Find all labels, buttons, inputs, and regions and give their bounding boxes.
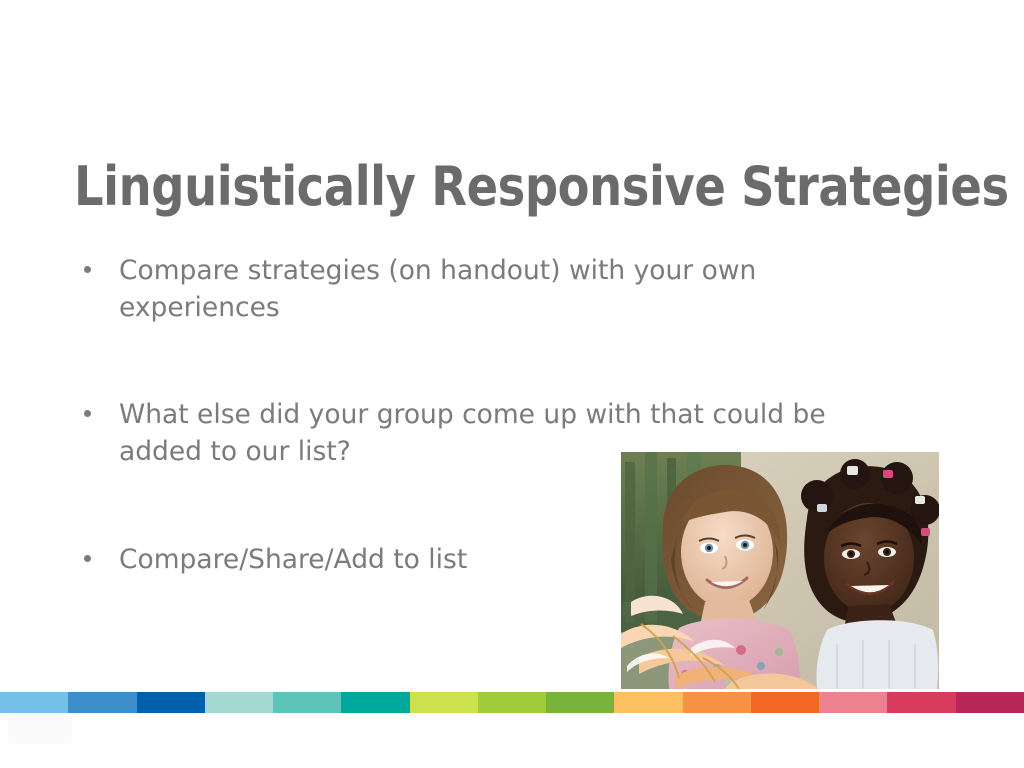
list-item: Compare strategies (on handout) with you… <box>76 252 906 326</box>
band-segment-yellow-green <box>410 692 478 713</box>
band-segment-light-orange <box>614 692 682 713</box>
band-segment-teal <box>273 692 341 713</box>
band-segment-crimson <box>887 692 955 713</box>
faint-watermark <box>8 718 72 744</box>
slide-title: Linguistically Responsive Strategies <box>74 155 848 219</box>
bullet-dot-icon <box>84 410 91 417</box>
band-segment-dark-blue <box>137 692 205 713</box>
band-segment-deep-teal <box>341 692 409 713</box>
band-segment-deep-orange <box>751 692 819 713</box>
bullet-dot-icon <box>84 555 91 562</box>
slide-photo <box>621 452 939 689</box>
band-segment-magenta <box>956 692 1024 713</box>
band-segment-light-blue <box>0 692 68 713</box>
band-segment-pale-teal <box>205 692 273 713</box>
band-segment-salmon-pink <box>819 692 887 713</box>
presentation-slide: Linguistically Responsive Strategies Com… <box>0 0 1024 768</box>
bullet-dot-icon <box>84 266 91 273</box>
band-segment-medium-blue <box>68 692 136 713</box>
band-segment-lime-green <box>478 692 546 713</box>
band-segment-green <box>546 692 614 713</box>
bullet-text: Compare strategies (on handout) with you… <box>119 252 906 326</box>
footer-color-band <box>0 692 1024 713</box>
band-segment-orange <box>683 692 751 713</box>
